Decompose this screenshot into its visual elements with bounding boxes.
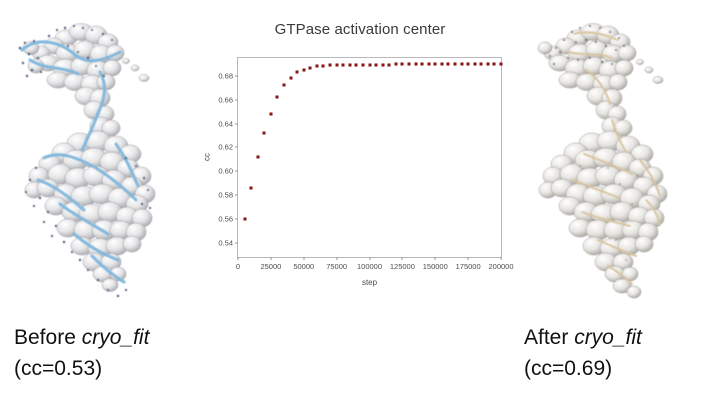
y-tick-label: 0.58 [218,191,233,200]
data-point [460,63,463,66]
data-point [407,63,410,66]
x-axis-label: step [237,278,502,287]
data-point [381,63,384,66]
caption-before: Before cryo_fit (cc=0.53) [14,322,149,384]
data-point [473,63,476,66]
x-tick-mark [435,257,436,260]
y-tick-mark [235,195,238,196]
data-point [276,96,279,99]
y-tick-mark [235,242,238,243]
data-point [289,77,292,80]
cryoem-density-map-before-icon [8,8,198,314]
data-point [269,113,272,116]
data-point [493,63,496,66]
data-point [315,65,318,68]
data-point [309,66,312,69]
data-point [421,63,424,66]
data-point [342,63,345,66]
data-point [500,63,503,66]
y-tick-label: 0.64 [218,119,233,128]
data-point [467,63,470,66]
data-point [486,63,489,66]
data-point [453,63,456,66]
data-point [348,63,351,66]
data-point [263,132,266,135]
x-tick-mark [238,257,239,260]
data-point [480,63,483,66]
caption-before-cc: (cc=0.53) [14,353,149,384]
structure-image-before [8,8,198,314]
caption-after-cc: (cc=0.69) [524,353,642,384]
structure-image-after [520,8,710,314]
data-point [447,63,450,66]
caption-before-program: cryo_fit [82,326,150,349]
data-point [361,63,364,66]
data-point [302,68,305,71]
x-tick-label: 75000 [326,262,347,271]
cryoem-density-map-after-icon [520,8,710,314]
y-tick-label: 0.62 [218,143,233,152]
caption-after-prefix: After [524,326,574,349]
data-point [296,71,299,74]
data-point [388,63,391,66]
scatter-series [238,58,501,257]
data-point [401,63,404,66]
x-tick-label: 125000 [390,262,415,271]
convergence-chart: GTPase activation center cc 0.540.560.58… [200,10,520,300]
x-tick-label: 100000 [357,262,382,271]
data-point [322,64,325,67]
x-tick-mark [303,257,304,260]
y-tick-mark [235,218,238,219]
x-tick-label: 200000 [488,262,513,271]
y-axis-label: cc [203,153,212,161]
x-tick-mark [369,257,370,260]
y-tick-mark [235,147,238,148]
data-point [355,63,358,66]
caption-before-prefix: Before [14,326,82,349]
caption-after-program: cryo_fit [574,326,642,349]
y-tick-label: 0.66 [218,95,233,104]
data-point [434,63,437,66]
x-tick-label: 175000 [456,262,481,271]
data-point [335,64,338,67]
y-tick-mark [235,99,238,100]
y-tick-mark [235,171,238,172]
data-point [375,63,378,66]
data-point [256,155,259,158]
x-tick-mark [270,257,271,260]
data-point [427,63,430,66]
data-point [243,217,246,220]
y-tick-mark [235,75,238,76]
data-point [368,63,371,66]
data-point [329,64,332,67]
x-tick-mark [468,257,469,260]
caption-after: After cryo_fit (cc=0.69) [524,322,642,384]
data-point [250,186,253,189]
x-tick-mark [402,257,403,260]
data-point [394,63,397,66]
data-point [440,63,443,66]
y-tick-label: 0.56 [218,214,233,223]
x-tick-mark [336,257,337,260]
y-tick-mark [235,123,238,124]
x-tick-label: 25000 [260,262,281,271]
plot-area: 0.540.560.580.600.620.640.660.6802500050… [237,57,502,258]
data-point [283,84,286,87]
x-tick-label: 0 [236,262,240,271]
y-tick-label: 0.54 [218,238,233,247]
y-tick-label: 0.60 [218,167,233,176]
x-tick-label: 50000 [293,262,314,271]
x-tick-mark [501,257,502,260]
y-tick-label: 0.68 [218,71,233,80]
x-tick-label: 150000 [423,262,448,271]
chart-title: GTPase activation center [200,21,520,38]
data-point [414,63,417,66]
